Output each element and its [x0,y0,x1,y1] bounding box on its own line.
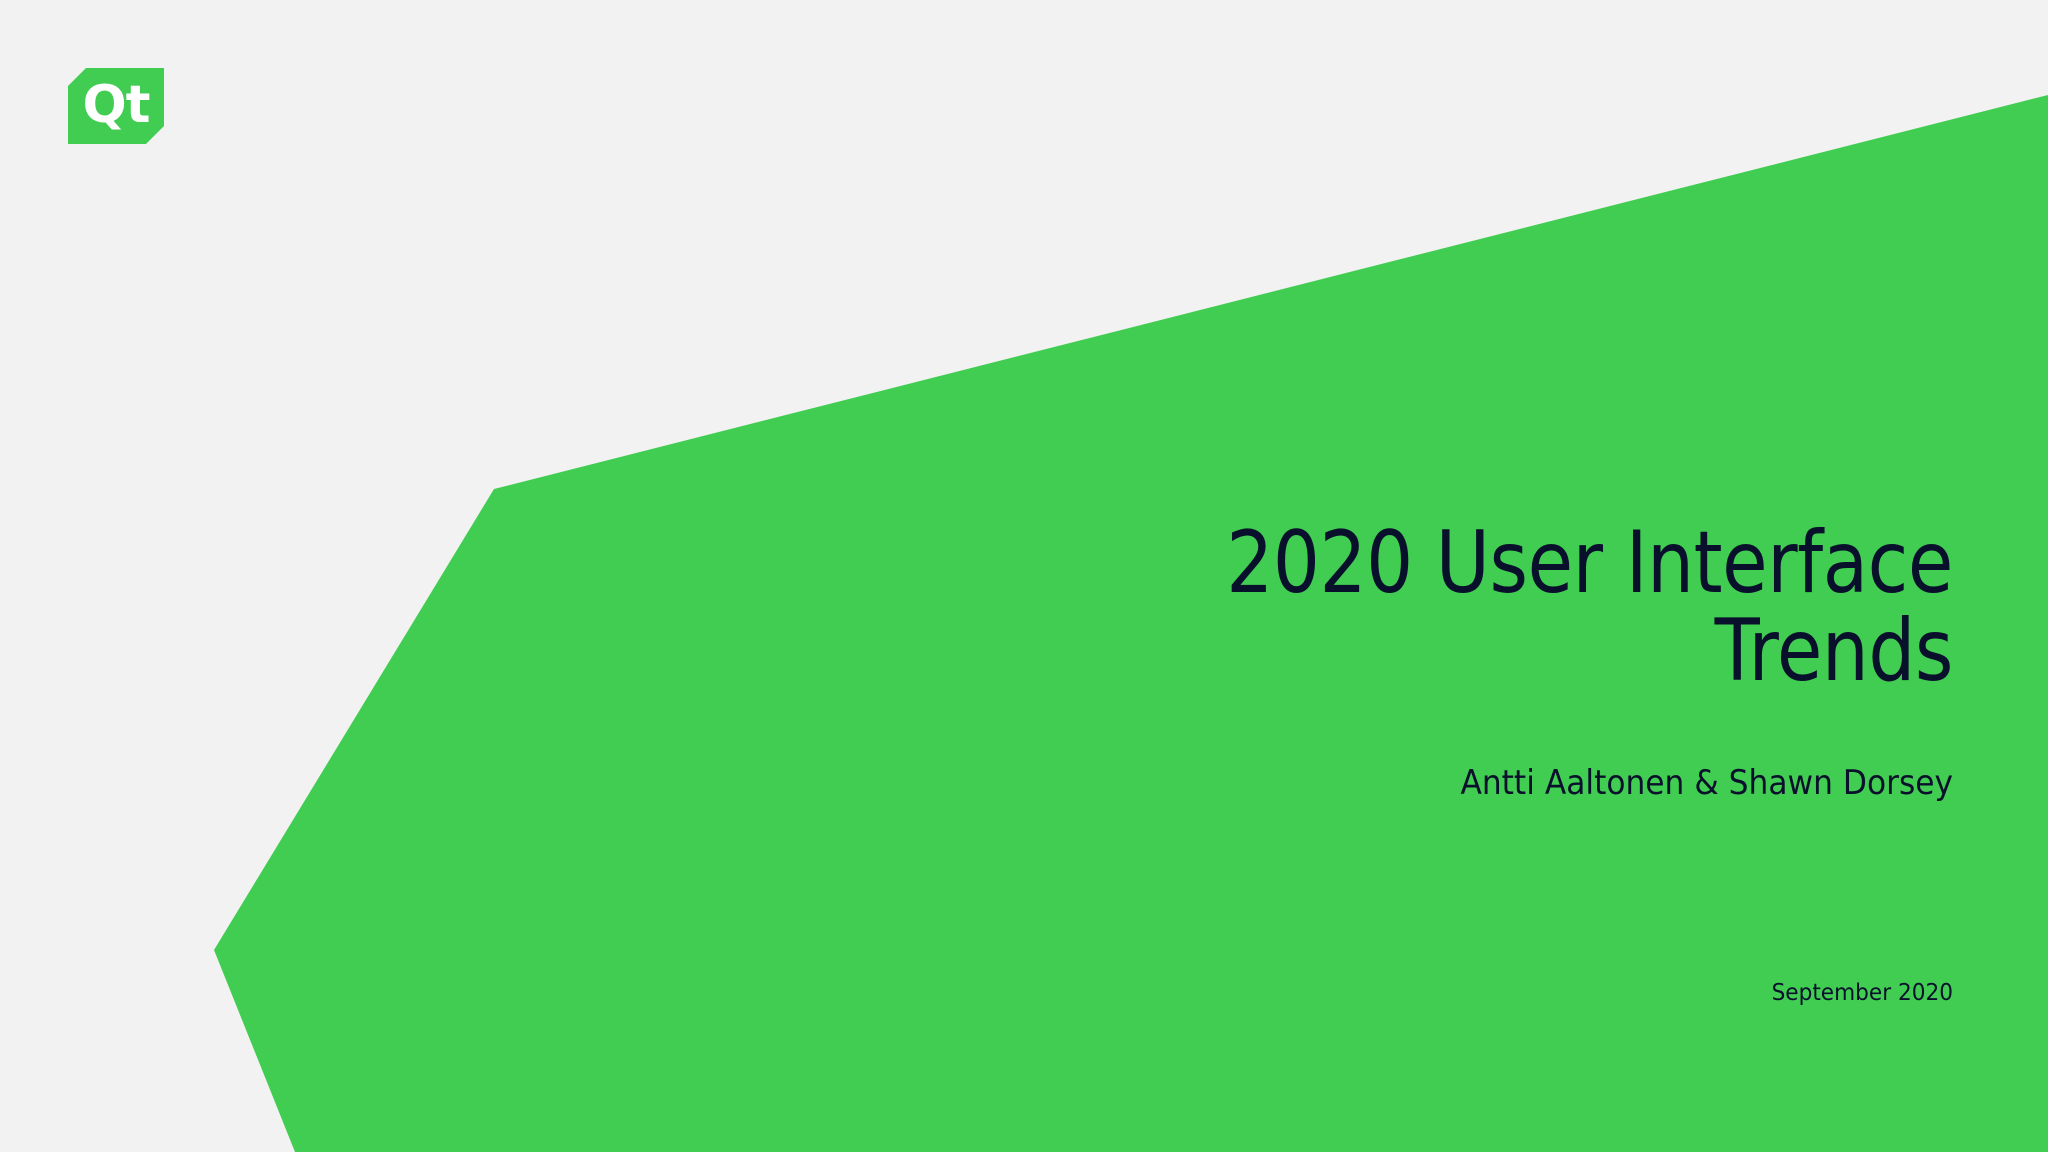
slide-canvas: Qt 2020 User Interface Trends Antti Aalt… [0,0,2048,1152]
authors-line: Antti Aaltonen & Shawn Dorsey [849,763,1953,804]
date-line: September 2020 [1772,980,1953,1008]
qt-logo-label: Qt [68,68,164,144]
page-title: 2020 User Interface Trends [921,520,1953,695]
qt-logo[interactable]: Qt [68,68,164,144]
title-block: 2020 User Interface Trends Antti Aaltone… [753,520,1953,804]
